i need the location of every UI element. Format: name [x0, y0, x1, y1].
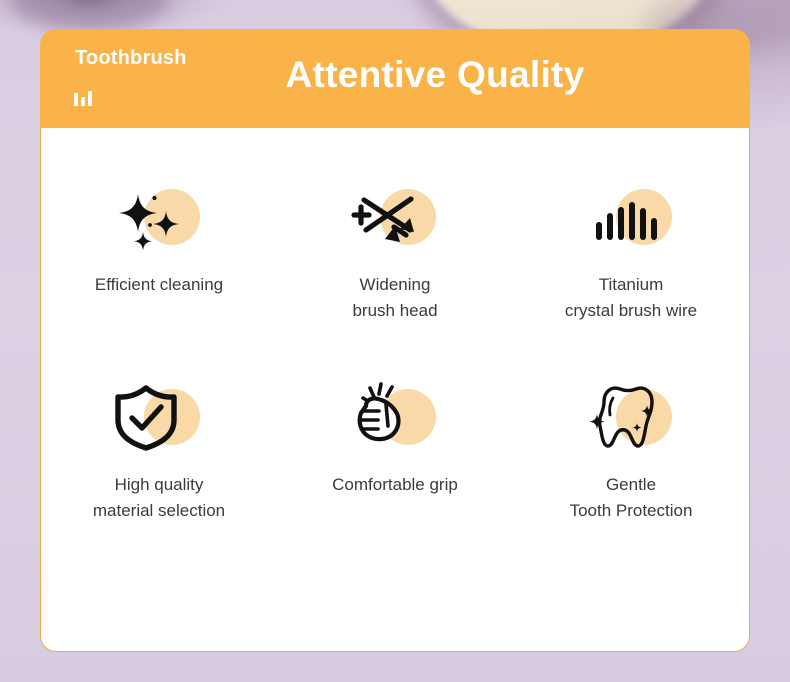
card-header: Toothbrush Attentive Quality — [40, 29, 750, 128]
feature-icon-wrap — [348, 378, 442, 456]
caption-line: material selection — [93, 498, 225, 524]
caption-line: Comfortable grip — [332, 472, 458, 498]
feature-grid: Efficient cleaning — [41, 178, 749, 578]
feature-icon-wrap — [348, 178, 442, 256]
feature-item: Comfortable grip — [277, 378, 513, 578]
feature-caption: Widening brush head — [352, 272, 437, 324]
shield-check-icon — [112, 378, 206, 456]
page-title: Attentive Quality — [40, 54, 750, 96]
feature-item: Widening brush head — [277, 178, 513, 378]
caption-line: Titanium — [565, 272, 697, 298]
caption-line: Efficient cleaning — [95, 272, 223, 298]
caption-line: Tooth Protection — [570, 498, 693, 524]
feature-caption: Titanium crystal brush wire — [565, 272, 697, 324]
feature-caption: Gentle Tooth Protection — [570, 472, 693, 524]
feature-caption: Efficient cleaning — [95, 272, 223, 298]
caption-line: Widening — [352, 272, 437, 298]
feature-item: Gentle Tooth Protection — [513, 378, 749, 578]
feature-caption: Comfortable grip — [332, 472, 458, 498]
feature-item: Efficient cleaning — [41, 178, 277, 378]
feature-item: Titanium crystal brush wire — [513, 178, 749, 378]
caption-line: brush head — [352, 298, 437, 324]
caption-line: Gentle — [570, 472, 693, 498]
feature-item: High quality material selection — [41, 378, 277, 578]
gripping-hand-icon — [348, 378, 442, 456]
tooth-sparkle-icon — [584, 378, 678, 456]
brush-bristles-icon — [584, 178, 678, 256]
caption-line: crystal brush wire — [565, 298, 697, 324]
card-body: Efficient cleaning — [40, 128, 750, 652]
sparkles-icon — [112, 178, 206, 256]
feature-icon-wrap — [112, 178, 206, 256]
feature-icon-wrap — [584, 378, 678, 456]
feature-icon-wrap — [584, 178, 678, 256]
feature-caption: High quality material selection — [93, 472, 225, 524]
feature-card: Toothbrush Attentive Quality — [40, 29, 750, 652]
feature-icon-wrap — [112, 378, 206, 456]
widening-arrows-icon — [348, 178, 442, 256]
caption-line: High quality — [93, 472, 225, 498]
